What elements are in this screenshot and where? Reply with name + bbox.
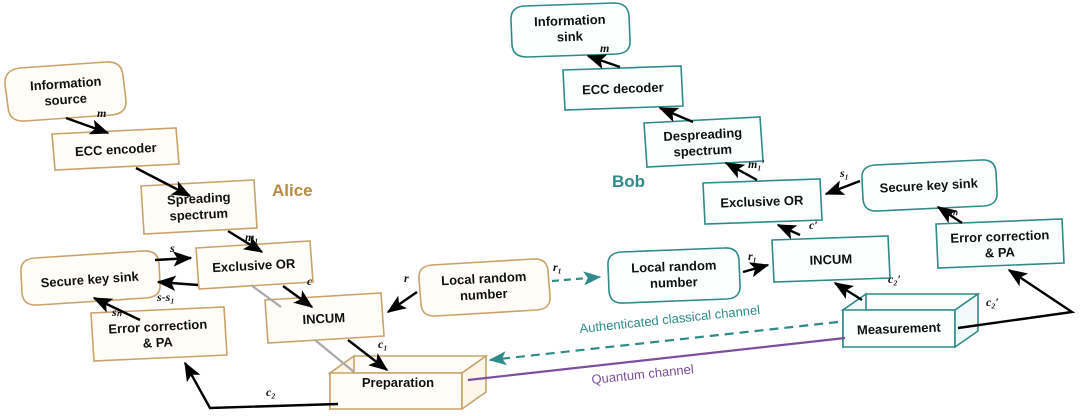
node-bob-exclusive-or[interactable]: Exclusive OR (703, 179, 822, 224)
channel-label-r1: r₁ (553, 260, 562, 274)
edge-label-cp: c′ (809, 218, 818, 232)
node-label-2: number (460, 286, 508, 303)
edge-label-m: m (97, 106, 106, 120)
edge-sks-to-xor (826, 181, 860, 194)
edge-label-r: r (404, 271, 409, 285)
edge-despreading-to-ecc-decoder (660, 108, 693, 122)
node-bob-info-sink[interactable]: Information sink (511, 3, 630, 57)
node-label: ECC decoder (582, 80, 664, 98)
node-alice-ecc-encoder[interactable]: ECC encoder (52, 128, 179, 170)
figure-canvas: Information source ECC encoder Spreading… (0, 0, 1080, 416)
node-label-2: & PA (142, 334, 173, 351)
node-label: Information (534, 12, 606, 29)
node-label: Exclusive OR (720, 193, 804, 211)
party-label-alice: Alice (272, 181, 313, 200)
edge-incum-to-xor (778, 225, 800, 235)
edge-lrn-to-incum (743, 265, 768, 272)
edge-label-c1: c₁ (378, 337, 388, 351)
edge-label-c2p: c₂′ (888, 272, 901, 286)
edge-label-sn: sₙ (111, 305, 123, 319)
node-label: Measurement (857, 320, 942, 338)
edge-label-c2: c₂ (266, 385, 276, 399)
node-bob-measurement[interactable]: Measurement (843, 294, 978, 347)
node-label: INCUM (809, 251, 852, 267)
edge-ecc-decoder-to-info-sink (588, 56, 620, 67)
edge-measurement-to-incum (835, 283, 862, 300)
node-label-2: & PA (985, 244, 1016, 260)
edge-xor-to-sks (158, 282, 198, 285)
edge-label-m: m (600, 41, 609, 55)
party-label-bob: Bob (612, 172, 645, 191)
edge-label-s1: s₁ (839, 166, 849, 180)
edge-label-m1p: m₁′ (748, 157, 765, 171)
shadow-incum-prep (315, 340, 354, 372)
node-bob-despreading[interactable]: Despreading spectrum (644, 117, 763, 167)
node-alice-info-source[interactable]: Information source (5, 62, 126, 121)
node-alice-spreading[interactable]: Spreading spectrum (141, 180, 257, 234)
edge-lrn-to-incum (388, 292, 417, 312)
node-bob-secure-key-sink[interactable]: Secure key sink (862, 160, 997, 211)
node-alice-secure-key-sink[interactable]: Secure key sink (21, 251, 160, 305)
edge-label-m1: m₁ (245, 230, 259, 244)
node-bob-incum[interactable]: INCUM (772, 236, 890, 282)
edge-label-sn: sₙ (947, 204, 959, 218)
node-label-2: spectrum (169, 205, 228, 223)
node-label: INCUM (302, 310, 345, 327)
classical-channel-label: Authenticated classical channel (579, 302, 761, 336)
channel-lrn-sync-link (552, 277, 600, 281)
node-label-2: spectrum (673, 141, 732, 159)
edge-label-c2p-2: c₂′ (986, 295, 999, 309)
bob-group: Information sink ECC decoder Despreading… (511, 3, 1072, 347)
edge-info-source-to-ecc-encoder (66, 118, 108, 133)
alice-group: Information source ECC encoder Spreading… (5, 62, 550, 409)
classical-channel-line (490, 322, 838, 360)
node-bob-error-correction[interactable]: Error correction & PA (936, 219, 1064, 268)
node-alice-local-random[interactable]: Local random number (419, 259, 550, 316)
node-alice-preparation[interactable]: Preparation (330, 356, 486, 409)
node-label-2: number (650, 274, 698, 291)
node-bob-ecc-decoder[interactable]: ECC decoder (563, 66, 683, 110)
edge-label-r1: r₁ (748, 249, 757, 263)
edge-label-s-s1: s-s₁ (156, 290, 175, 304)
node-label-2: sink (557, 29, 584, 45)
edge-preparation-to-ec (185, 363, 338, 408)
node-alice-incum[interactable]: INCUM (265, 293, 384, 343)
node-label: Preparation (362, 375, 434, 390)
node-label-2: source (44, 91, 88, 109)
node-bob-local-random[interactable]: Local random number (608, 248, 740, 303)
edge-sks-to-xor (155, 258, 191, 260)
edge-label-c: c (307, 274, 313, 288)
node-label: Local random (631, 258, 717, 276)
edge-label-s: s (169, 241, 175, 255)
